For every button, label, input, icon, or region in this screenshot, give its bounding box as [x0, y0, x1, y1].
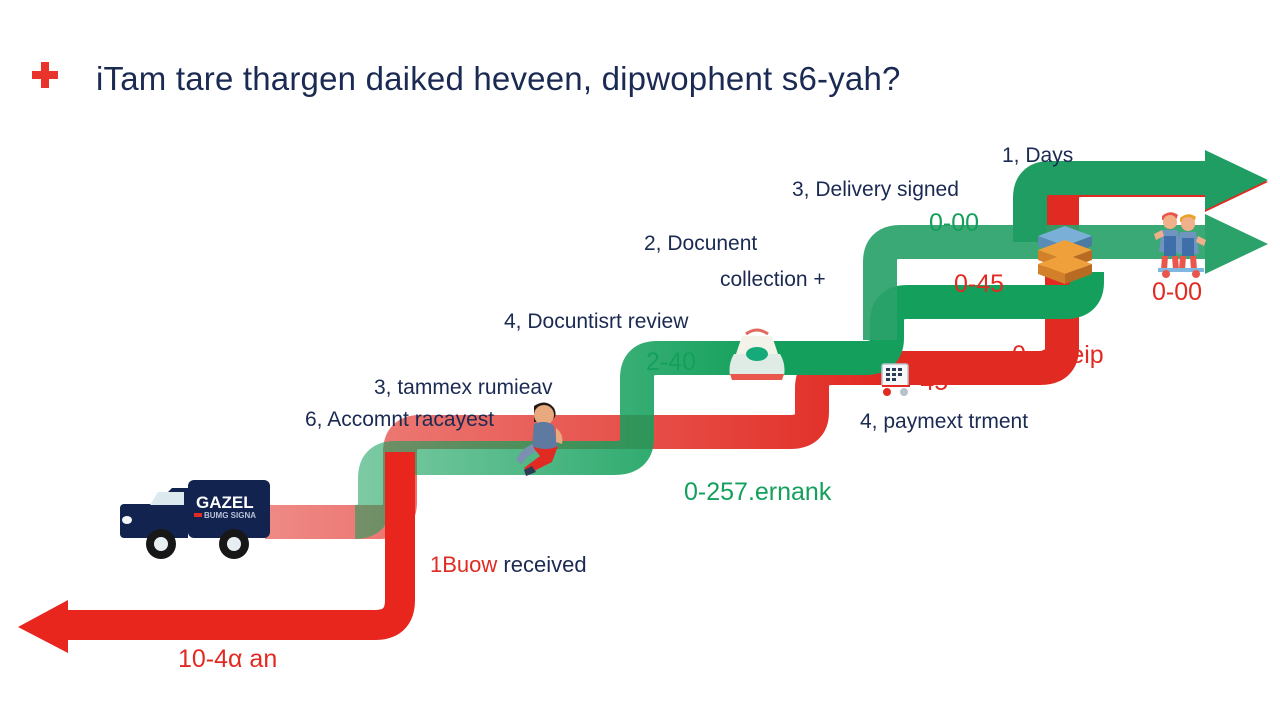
label-order-received-prefix: 1Buow — [430, 552, 497, 577]
delivery-truck-illustration: GAZEL BUMG SIGNA — [118, 470, 283, 565]
svg-text:GAZEL: GAZEL — [196, 493, 254, 512]
green-flow-path — [355, 150, 1268, 522]
value-red-sweip: 0, sweip — [1012, 341, 1104, 370]
value-red-045: 0-45 — [954, 270, 1004, 299]
value-green-257: 0-257.ernank — [684, 478, 831, 507]
value-green-delivery: 0-00 — [929, 209, 979, 238]
step-account-request-label: 6, Accomnt racayest — [305, 408, 494, 432]
svg-text:BUMG SIGNA: BUMG SIGNA — [204, 511, 256, 520]
label-order-received: 1Buow received — [430, 552, 587, 577]
step-days-label: 1, Days — [1002, 144, 1073, 168]
step-document-review-label: 4, Docuntisrt review — [504, 310, 688, 334]
truck-brand-text: GAZEL BUMG SIGNA — [194, 493, 256, 520]
stacked-pallet-illustration — [1030, 222, 1100, 284]
slide-canvas: iTam tare thargen daiked heveen, dipwoph… — [0, 0, 1280, 720]
container-jug-illustration — [722, 322, 792, 384]
value-red-45-low: -45 — [912, 368, 948, 397]
step-payment-label: 4, paymext trment — [860, 410, 1028, 434]
step-tammex-label: 3, tammex rumieav — [374, 376, 553, 400]
person-sitting-illustration — [512, 398, 574, 483]
step-document-label: 2, Docunent — [644, 232, 757, 256]
step-delivery-signed-label: 3, Delivery signed — [792, 178, 959, 202]
value-green-240: 2-40 — [646, 348, 696, 377]
two-workers-illustration — [1150, 206, 1212, 278]
step-document-collection-label: collection + — [720, 268, 826, 292]
value-red-000-right: 0-00 — [1152, 278, 1202, 307]
value-red-10-4: 10-4α an — [178, 645, 277, 674]
label-order-received-suffix: received — [503, 552, 586, 577]
